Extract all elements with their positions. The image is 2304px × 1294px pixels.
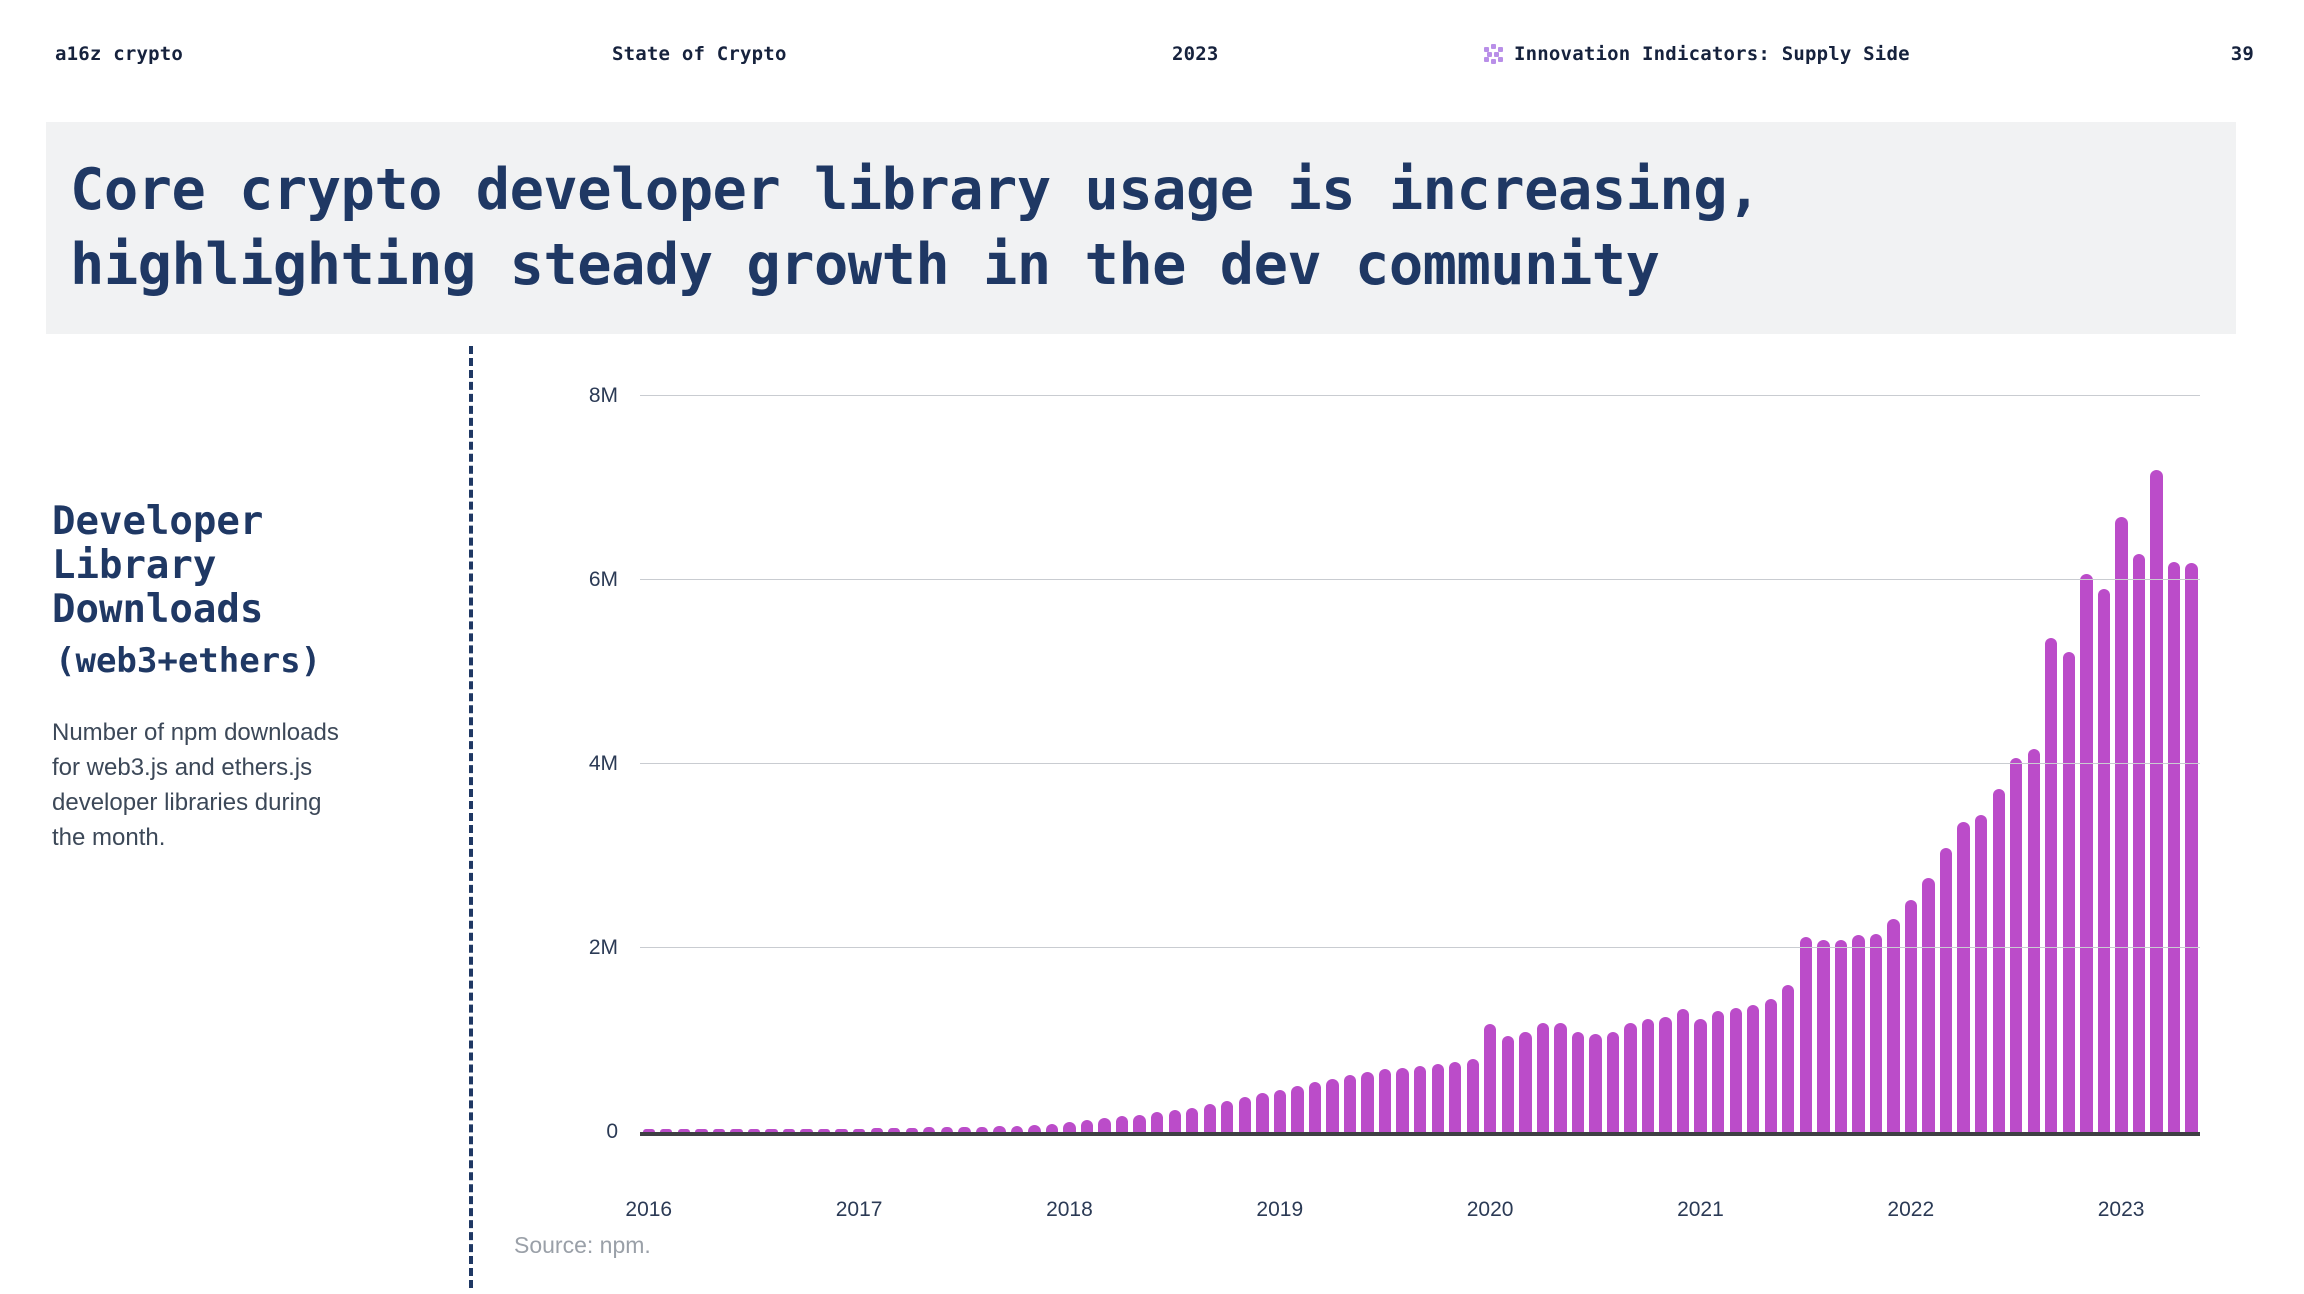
chart-bar	[1694, 1019, 1706, 1132]
chart-bar	[1659, 1017, 1671, 1132]
chart-bar	[1344, 1075, 1356, 1132]
chart-bar	[1361, 1072, 1373, 1132]
chart-bar	[1642, 1019, 1654, 1132]
y-axis-tick-label: 8M	[589, 384, 618, 408]
gridline	[640, 763, 2200, 764]
chart-bar	[1291, 1086, 1303, 1132]
slide: a16z crypto State of Crypto 2023 Innovat…	[0, 0, 2304, 1294]
chart-bar	[1467, 1059, 1479, 1132]
x-axis-tick-label: 2017	[836, 1198, 883, 1222]
gridline	[640, 579, 2200, 580]
chart-bar	[1607, 1032, 1619, 1132]
chart-bar	[1624, 1023, 1636, 1132]
chart-bar	[1712, 1011, 1724, 1132]
chart-bar	[1905, 900, 1917, 1132]
chart-bar	[1677, 1009, 1689, 1132]
chart-bar	[1870, 934, 1882, 1132]
slide-header: a16z crypto State of Crypto 2023 Innovat…	[0, 0, 2304, 88]
chart-bar	[1502, 1036, 1514, 1132]
report-year-label: 2023	[1172, 43, 1219, 65]
chart-bar	[1519, 1032, 1531, 1132]
x-axis-line	[640, 1132, 2200, 1136]
chart-bar	[1887, 919, 1899, 1132]
bar-chart: 02M4M6M8M2016201720182019202020212022202…	[500, 346, 2230, 1206]
chart-bar	[1765, 999, 1777, 1132]
chart-bar	[1449, 1062, 1461, 1132]
chart-bar	[1975, 815, 1987, 1132]
y-axis-tick-label: 6M	[589, 568, 618, 592]
report-title-label: State of Crypto	[612, 43, 787, 65]
chart-bar	[1186, 1108, 1198, 1132]
chart-bar	[1730, 1008, 1742, 1132]
chart-bar	[1589, 1034, 1601, 1132]
x-axis-tick-label: 2019	[1256, 1198, 1303, 1222]
chart-bar	[1852, 935, 1864, 1132]
chart-bar	[2010, 758, 2022, 1132]
chart-bar	[1940, 848, 1952, 1132]
x-axis-tick-label: 2018	[1046, 1198, 1093, 1222]
title-band: Core crypto developer library usage is i…	[46, 122, 2236, 334]
x-axis-tick-label: 2020	[1467, 1198, 1514, 1222]
y-axis-tick-label: 4M	[589, 752, 618, 776]
chart-bar	[2063, 652, 2075, 1132]
chart-bar	[1256, 1093, 1268, 1132]
vertical-dashed-divider	[469, 346, 473, 1288]
panel-description: Number of npm downloads for web3.js and …	[52, 715, 352, 855]
chart-bar	[1063, 1122, 1075, 1132]
chart-bar	[1537, 1023, 1549, 1132]
chart-plot-area: 02M4M6M8M2016201720182019202020212022202…	[640, 396, 2200, 1136]
chart-bar	[2115, 517, 2127, 1132]
panel-heading: Developer Library Downloads	[52, 500, 422, 632]
dots-cluster-icon	[1484, 44, 1504, 64]
section-label-group: Innovation Indicators: Supply Side	[1484, 43, 1910, 65]
chart-bar	[1379, 1069, 1391, 1132]
x-axis-tick-label: 2021	[1677, 1198, 1724, 1222]
chart-bar	[2080, 574, 2092, 1132]
source-note: Source: npm.	[514, 1232, 651, 1259]
chart-bar	[1957, 822, 1969, 1132]
chart-bar	[1432, 1064, 1444, 1132]
chart-bar	[2098, 589, 2110, 1132]
chart-bar	[2150, 470, 2162, 1132]
chart-bar	[1221, 1101, 1233, 1132]
y-axis-tick-label: 2M	[589, 936, 618, 960]
chart-bar	[1169, 1110, 1181, 1132]
page-title: Core crypto developer library usage is i…	[70, 153, 1761, 303]
chart-bar	[1922, 878, 1934, 1132]
chart-bar	[1274, 1090, 1286, 1132]
chart-bar	[1239, 1097, 1251, 1132]
page-number: 39	[2231, 43, 2254, 65]
chart-bar	[1993, 789, 2005, 1132]
left-description-panel: Developer Library Downloads (web3+ethers…	[52, 500, 422, 855]
chart-bar	[1309, 1082, 1321, 1132]
y-axis-tick-label: 0	[606, 1120, 618, 1144]
x-axis-tick-label: 2016	[625, 1198, 672, 1222]
section-label: Innovation Indicators: Supply Side	[1514, 43, 1910, 65]
chart-bar	[2045, 638, 2057, 1132]
chart-bar	[1484, 1024, 1496, 1132]
chart-bar	[2168, 562, 2180, 1132]
chart-bar	[1572, 1032, 1584, 1132]
chart-bar	[1747, 1005, 1759, 1132]
x-axis-tick-label: 2022	[1887, 1198, 1934, 1222]
gridline	[640, 395, 2200, 396]
chart-bar	[2185, 563, 2197, 1132]
chart-bar	[1133, 1115, 1145, 1132]
chart-bar	[1204, 1104, 1216, 1132]
chart-bar	[1081, 1120, 1093, 1132]
chart-bar	[2133, 554, 2145, 1132]
chart-bars	[640, 396, 2200, 1132]
brand-label: a16z crypto	[55, 43, 183, 65]
x-axis-tick-label: 2023	[2098, 1198, 2145, 1222]
chart-bar	[1414, 1066, 1426, 1132]
chart-bar	[1116, 1116, 1128, 1132]
chart-bar	[1326, 1079, 1338, 1132]
chart-bar	[2028, 749, 2040, 1132]
chart-bar	[1554, 1023, 1566, 1132]
gridline	[640, 947, 2200, 948]
chart-bar	[1098, 1118, 1110, 1132]
chart-bar	[1046, 1124, 1058, 1132]
chart-bar	[1817, 940, 1829, 1132]
chart-bar	[1835, 940, 1847, 1132]
chart-bar	[1800, 937, 1812, 1132]
chart-bar	[1028, 1125, 1040, 1132]
chart-bar	[1396, 1068, 1408, 1132]
chart-bar	[1151, 1112, 1163, 1132]
panel-subheading: (web3+ethers)	[55, 641, 422, 681]
chart-bar	[1782, 985, 1794, 1132]
